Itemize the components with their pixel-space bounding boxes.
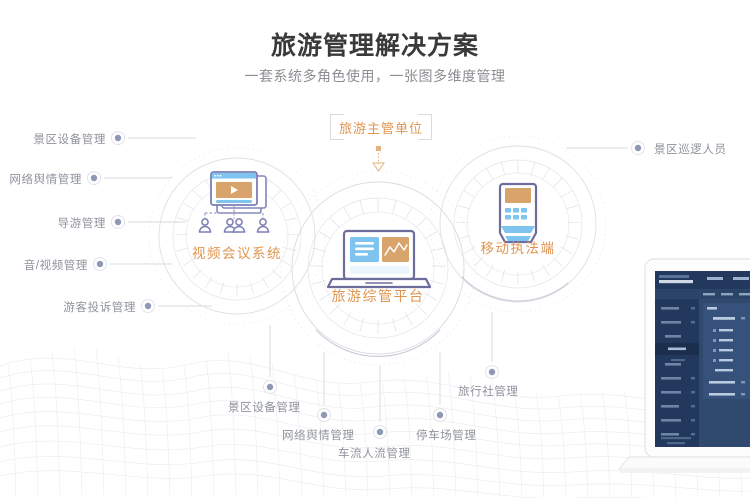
spoke-label-left-2: 导游管理 [0,215,106,231]
spoke-dot [91,175,97,181]
spoke-label-left-1: 网络舆情管理 [0,171,82,187]
page-title: 旅游管理解决方案 [0,26,750,62]
spoke-label-bottom-2: 车流人流管理 [338,445,411,461]
ring-mobile-enforcement [430,136,606,312]
authority-label: 旅游主管单位 [339,118,423,137]
left-spokes [88,132,213,313]
authority-box: 旅游主管单位 [330,114,432,140]
right-spokes [566,142,645,155]
ring-central-platform [281,171,475,365]
laptop-dashboard-icon [328,231,430,287]
arrow-source-square [376,146,381,151]
spoke-label-bottom-4: 旅行社管理 [458,383,519,399]
bottom-spokes [264,312,499,439]
arrow-head-icon [373,163,384,171]
spoke-label-left-0: 景区设备管理 [0,131,106,147]
spoke-dot [97,261,103,267]
node-label-video-conference: 视频会议系统 [167,242,307,262]
spoke-dot [115,135,121,141]
node-label-mobile-enforcement: 移动执法端 [448,237,588,257]
ring-video-conference [149,148,325,324]
node-label-central-platform: 旅游综管平台 [308,286,448,306]
spoke-dot [489,369,495,375]
spoke-dot [321,412,327,418]
spoke-dot [635,145,641,151]
spoke-dot [437,412,443,418]
spoke-label-right-0: 景区巡逻人员 [654,141,727,157]
spoke-label-bottom-0: 景区设备管理 [228,399,301,415]
spoke-label-bottom-3: 停车场管理 [416,427,477,443]
spoke-label-bottom-1: 网络舆情管理 [282,427,355,443]
spoke-label-left-4: 游客投诉管理 [0,299,136,315]
video-window-icon [200,172,269,232]
product-laptop-mockup [641,255,750,498]
spoke-dot [145,303,151,309]
spoke-label-left-3: 音/视频管理 [0,257,88,273]
spoke-dot [267,384,273,390]
page-subtitle: 一套系统多角色使用，一张图多维度管理 [0,66,750,86]
spoke-dot [377,429,383,435]
spoke-dot [115,219,121,225]
solution-diagram-page: 旅游管理解决方案 一套系统多角色使用，一张图多维度管理 旅游主管单位 [0,0,750,498]
handheld-device-icon [500,184,536,242]
